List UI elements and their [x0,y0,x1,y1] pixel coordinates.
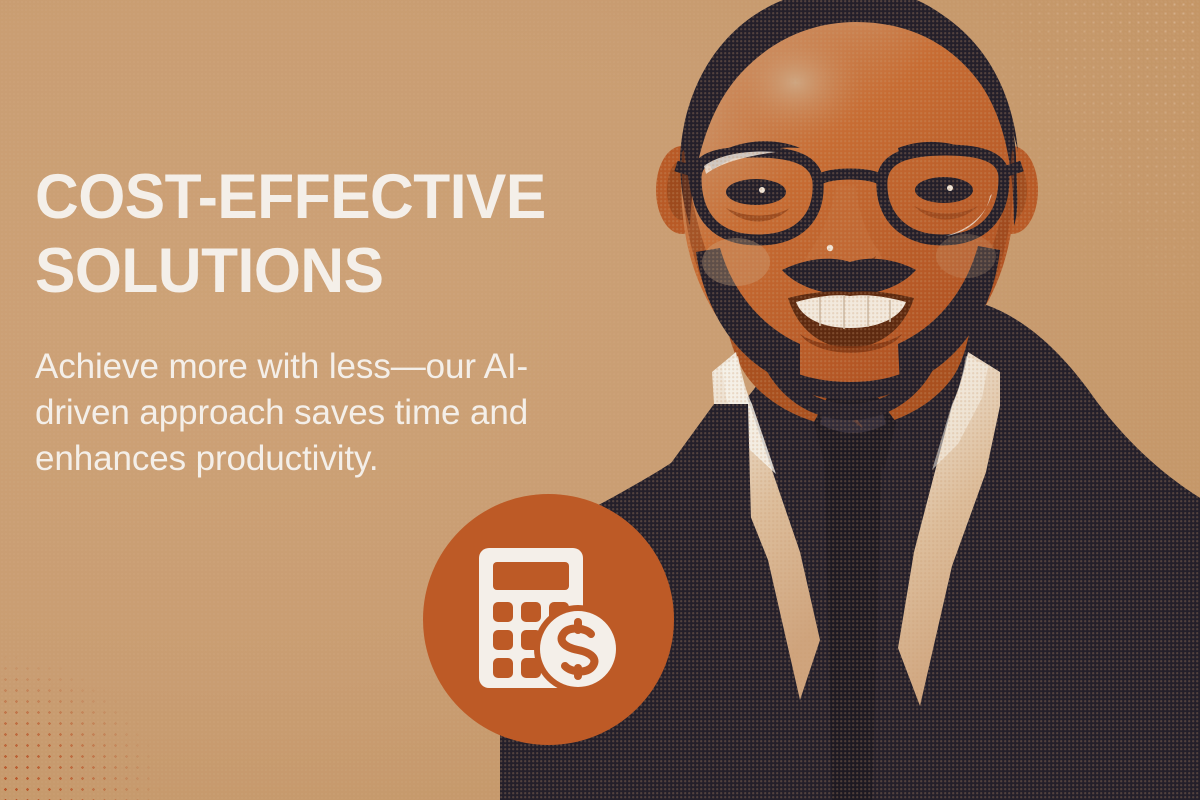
banner-subheadline: Achieve more with less—our AI-driven app… [35,344,580,482]
calculator-dollar-icon [473,544,625,696]
banner-copy-block: COST-EFFECTIVE SOLUTIONS Achieve more wi… [35,160,635,482]
cost-effective-solutions-banner: COST-EFFECTIVE SOLUTIONS Achieve more wi… [0,0,1200,800]
calculator-dollar-icon-badge [423,494,674,745]
page-title: COST-EFFECTIVE SOLUTIONS [35,160,611,308]
